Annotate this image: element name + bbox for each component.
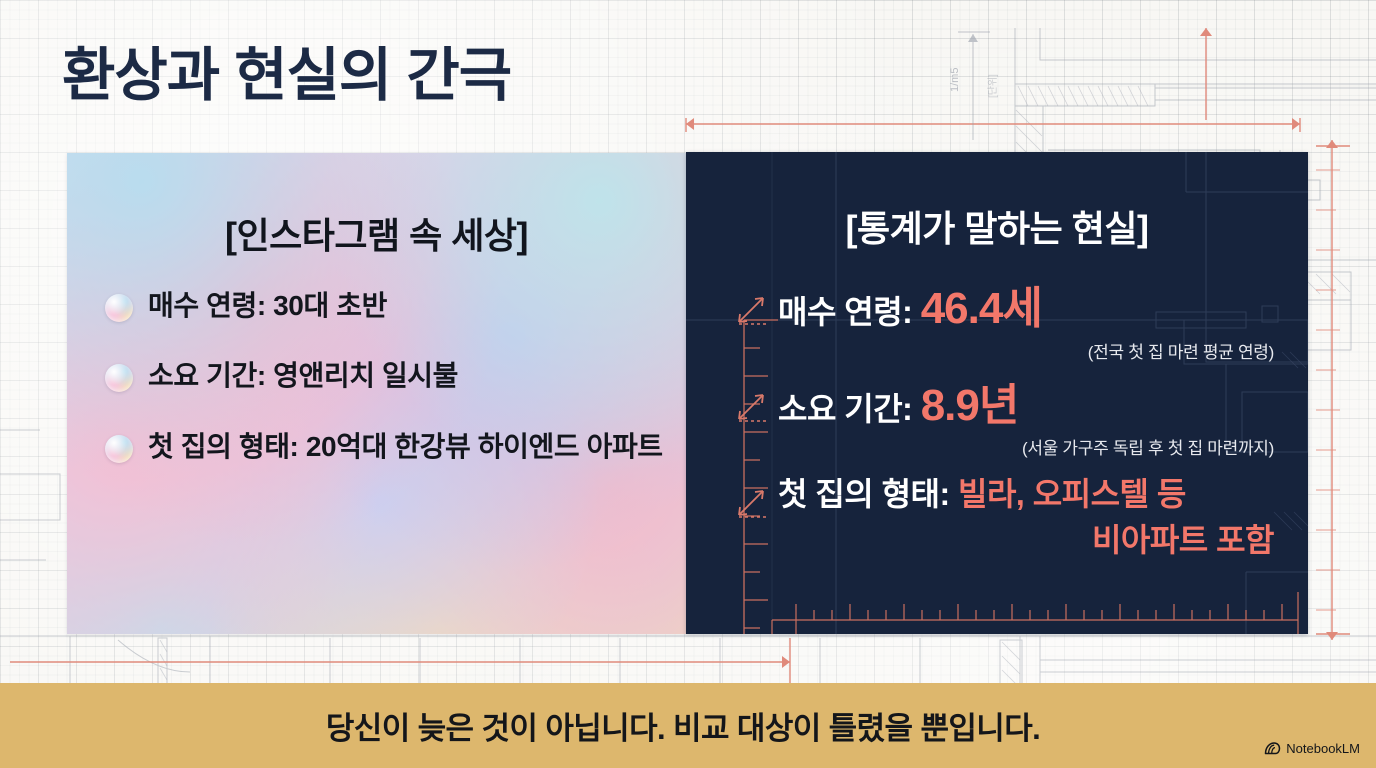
- list-item-label: 첫 집의 형태:: [778, 476, 958, 512]
- list-item-caption: (서울 가구주 독립 후 첫 집 마련까지): [734, 434, 1282, 459]
- list-item-value: 8.9년: [921, 381, 1019, 430]
- notebooklm-branding: NotebookLM: [1264, 741, 1360, 756]
- banner-message: 당신이 늦은 것이 아닙니다. 비교 대상이 틀렸을 뿐입니다.: [326, 703, 1040, 748]
- list-item-text: 소요 기간: 8.9년: [778, 379, 1018, 433]
- list-item-label: 매수 연령:: [778, 294, 921, 330]
- notebooklm-label: NotebookLM: [1286, 741, 1360, 756]
- diagonal-dimension-arrow-icon: [734, 290, 770, 328]
- list-item-text: 매수 연령: 46.4세: [778, 282, 1042, 336]
- list-item-label: 첫 집의 형태: 20억대 한강뷰 하이엔드 아파트: [148, 429, 663, 465]
- list-item-extra: 비아파트 포함: [734, 521, 1282, 560]
- page-title: 환상과 현실의 간극: [62, 44, 511, 108]
- bottom-banner: 당신이 늦은 것이 아닙니다. 비교 대상이 틀렸을 뿐입니다. Noteboo…: [0, 683, 1376, 768]
- list-item-label: 매수 연령: 30대 초반: [148, 288, 387, 324]
- list-item-value: 46.4세: [921, 284, 1042, 333]
- fantasy-list: 매수 연령: 30대 초반 소요 기간: 영앤리치 일시불 첫 집의 형태: 2…: [105, 288, 668, 499]
- list-item: 매수 연령: 30대 초반: [105, 288, 668, 324]
- list-item-caption: (전국 첫 집 마련 평균 연령): [734, 338, 1282, 363]
- svg-text:1/m5: 1/m5: [949, 68, 961, 92]
- list-item-label: 소요 기간: 영앤리치 일시불: [148, 358, 458, 394]
- list-item: 매수 연령: 46.4세 (전국 첫 집 마련 평균 연령): [734, 282, 1282, 363]
- slide-canvas: 1/m5 [단위] 환상과 현실의 간극 [인스타그램 속 세상] 매수 연령:…: [0, 0, 1376, 768]
- list-item: 첫 집의 형태: 20억대 한강뷰 하이엔드 아파트: [105, 429, 668, 465]
- svg-text:[단위]: [단위]: [986, 74, 999, 98]
- diagonal-dimension-arrow-icon: [734, 483, 770, 521]
- list-item: 첫 집의 형태: 빌라, 오피스텔 등 비아파트 포함: [734, 475, 1282, 560]
- gradient-orb-bullet-icon: [105, 364, 133, 392]
- fantasy-panel-heading: [인스타그램 속 세상]: [67, 207, 686, 259]
- reality-list: 매수 연령: 46.4세 (전국 첫 집 마련 평균 연령): [734, 282, 1282, 568]
- gradient-orb-bullet-icon: [105, 294, 133, 322]
- reality-panel: [통계가 말하는 현실] 매수 연령: 46.4세: [686, 152, 1308, 634]
- list-item-text: 첫 집의 형태: 빌라, 오피스텔 등: [778, 475, 1186, 514]
- fantasy-panel: [인스타그램 속 세상] 매수 연령: 30대 초반 소요 기간: 영앤리치 일…: [67, 153, 686, 634]
- reality-panel-heading: [통계가 말하는 현실]: [686, 200, 1308, 252]
- list-item: 소요 기간: 8.9년 (서울 가구주 독립 후 첫 집 마련까지): [734, 379, 1282, 460]
- diagonal-dimension-arrow-icon: [734, 387, 770, 425]
- gradient-orb-bullet-icon: [105, 435, 133, 463]
- list-item: 소요 기간: 영앤리치 일시불: [105, 358, 668, 394]
- notebooklm-icon: [1264, 741, 1281, 756]
- list-item-label: 소요 기간:: [778, 391, 921, 427]
- list-item-value: 빌라, 오피스텔 등: [958, 476, 1186, 512]
